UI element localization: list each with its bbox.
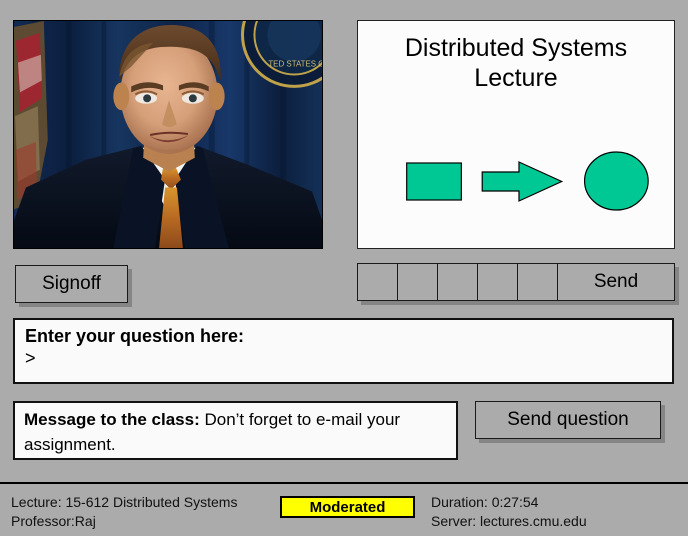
question-input[interactable]: Enter your question here: >: [13, 318, 674, 384]
video-frame-image: TED STATES O: [14, 21, 322, 248]
slide-nav-cell-2[interactable]: [398, 264, 438, 300]
signoff-button-label: Signoff: [42, 273, 101, 295]
status-duration-line: Duration: 0:27:54: [431, 493, 587, 512]
lecture-client-window: TED STATES O: [0, 0, 688, 536]
slide-title: Distributed Systems Lecture: [358, 33, 674, 93]
class-message-text: Message to the class: Don’t forget to e-…: [24, 407, 448, 457]
slide-nav-cell-1[interactable]: [358, 264, 398, 300]
slide-nav-cell-3[interactable]: [438, 264, 478, 300]
diagram-arrow-icon: [482, 162, 561, 201]
moderated-status-label: Moderated: [310, 499, 386, 516]
signoff-button[interactable]: Signoff: [15, 265, 128, 303]
slide-title-line-1: Distributed Systems: [358, 33, 674, 63]
diagram-ellipse: [585, 152, 649, 210]
slide-diagram: [358, 129, 674, 244]
status-lecture-line: Lecture: 15-612 Distributed Systems: [11, 493, 237, 512]
status-professor-line: Professor:Raj: [11, 512, 237, 531]
slide-nav-cell-5[interactable]: [518, 264, 558, 300]
question-input-value[interactable]: >: [25, 347, 662, 369]
send-button-label: Send: [594, 271, 638, 293]
question-prompt-label: Enter your question here:: [25, 325, 662, 347]
diagram-rectangle: [407, 163, 462, 200]
lecture-slide-panel[interactable]: Distributed Systems Lecture: [357, 20, 675, 249]
send-question-button[interactable]: Send question: [475, 401, 661, 439]
status-session-info: Duration: 0:27:54 Server: lectures.cmu.e…: [431, 493, 587, 531]
slide-title-line-2: Lecture: [358, 63, 674, 93]
status-server-line: Server: lectures.cmu.edu: [431, 512, 587, 531]
slide-nav-cell-4[interactable]: [478, 264, 518, 300]
moderated-status-badge: Moderated: [280, 496, 415, 518]
class-message-panel: Message to the class: Don’t forget to e-…: [13, 401, 458, 460]
svg-text:TED STATES O: TED STATES O: [268, 60, 322, 69]
slide-nav-strip[interactable]: Send: [357, 263, 675, 301]
live-video-feed[interactable]: TED STATES O: [13, 20, 323, 249]
send-button[interactable]: Send: [558, 264, 674, 300]
send-question-button-label: Send question: [507, 409, 629, 431]
status-lecture-info: Lecture: 15-612 Distributed Systems Prof…: [11, 493, 237, 531]
class-message-label: Message to the class:: [24, 410, 200, 429]
